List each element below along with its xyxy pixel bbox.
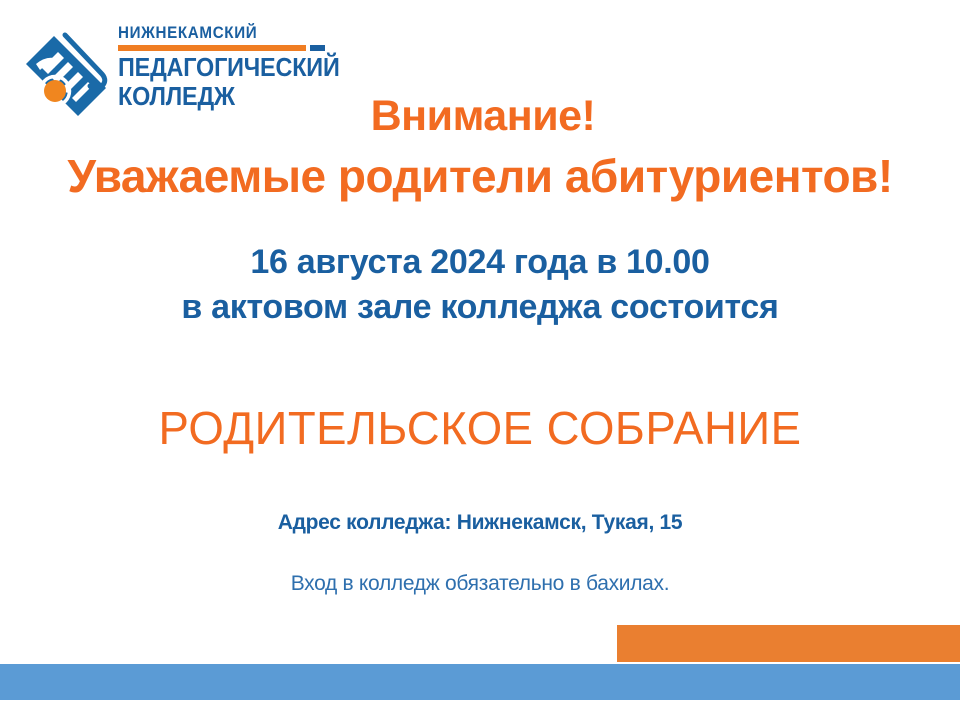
event-datetime-block: 16 августа 2024 года в 10.00 в актовом з… (0, 240, 960, 330)
logo-rule-blue (310, 45, 325, 51)
event-title: РОДИТЕЛЬСКОЕ СОБРАНИЕ (5, 400, 955, 456)
entry-note: Вход в колледж обязательно в бахилах. (0, 570, 960, 598)
decorative-bar-orange (617, 625, 960, 662)
event-datetime-line: 16 августа 2024 года в 10.00 (250, 243, 709, 281)
audience-heading: Уважаемые родители абитуриентов! (0, 149, 960, 203)
logo-rule-orange (118, 45, 306, 51)
event-venue-line: в актовом зале колледжа состоится (0, 285, 960, 330)
logo-line-nizhnekamskiy: НИЖНЕКАМСКИЙ (118, 24, 322, 43)
poster-canvas: НИЖНЕКАМСКИЙ ПЕДАГОГИЧЕСКИЙ КОЛЛЕДЖ Вним… (0, 0, 960, 720)
college-address: Адрес колледжа: Нижнекамск, Тукая, 15 (0, 509, 960, 537)
decorative-bar-blue (0, 664, 960, 700)
logo-line-pedagogicheskiy: ПЕДАГОГИЧЕСКИЙ (118, 53, 318, 82)
logo-divider-rule (118, 45, 325, 51)
attention-heading: Внимание! (0, 92, 960, 140)
